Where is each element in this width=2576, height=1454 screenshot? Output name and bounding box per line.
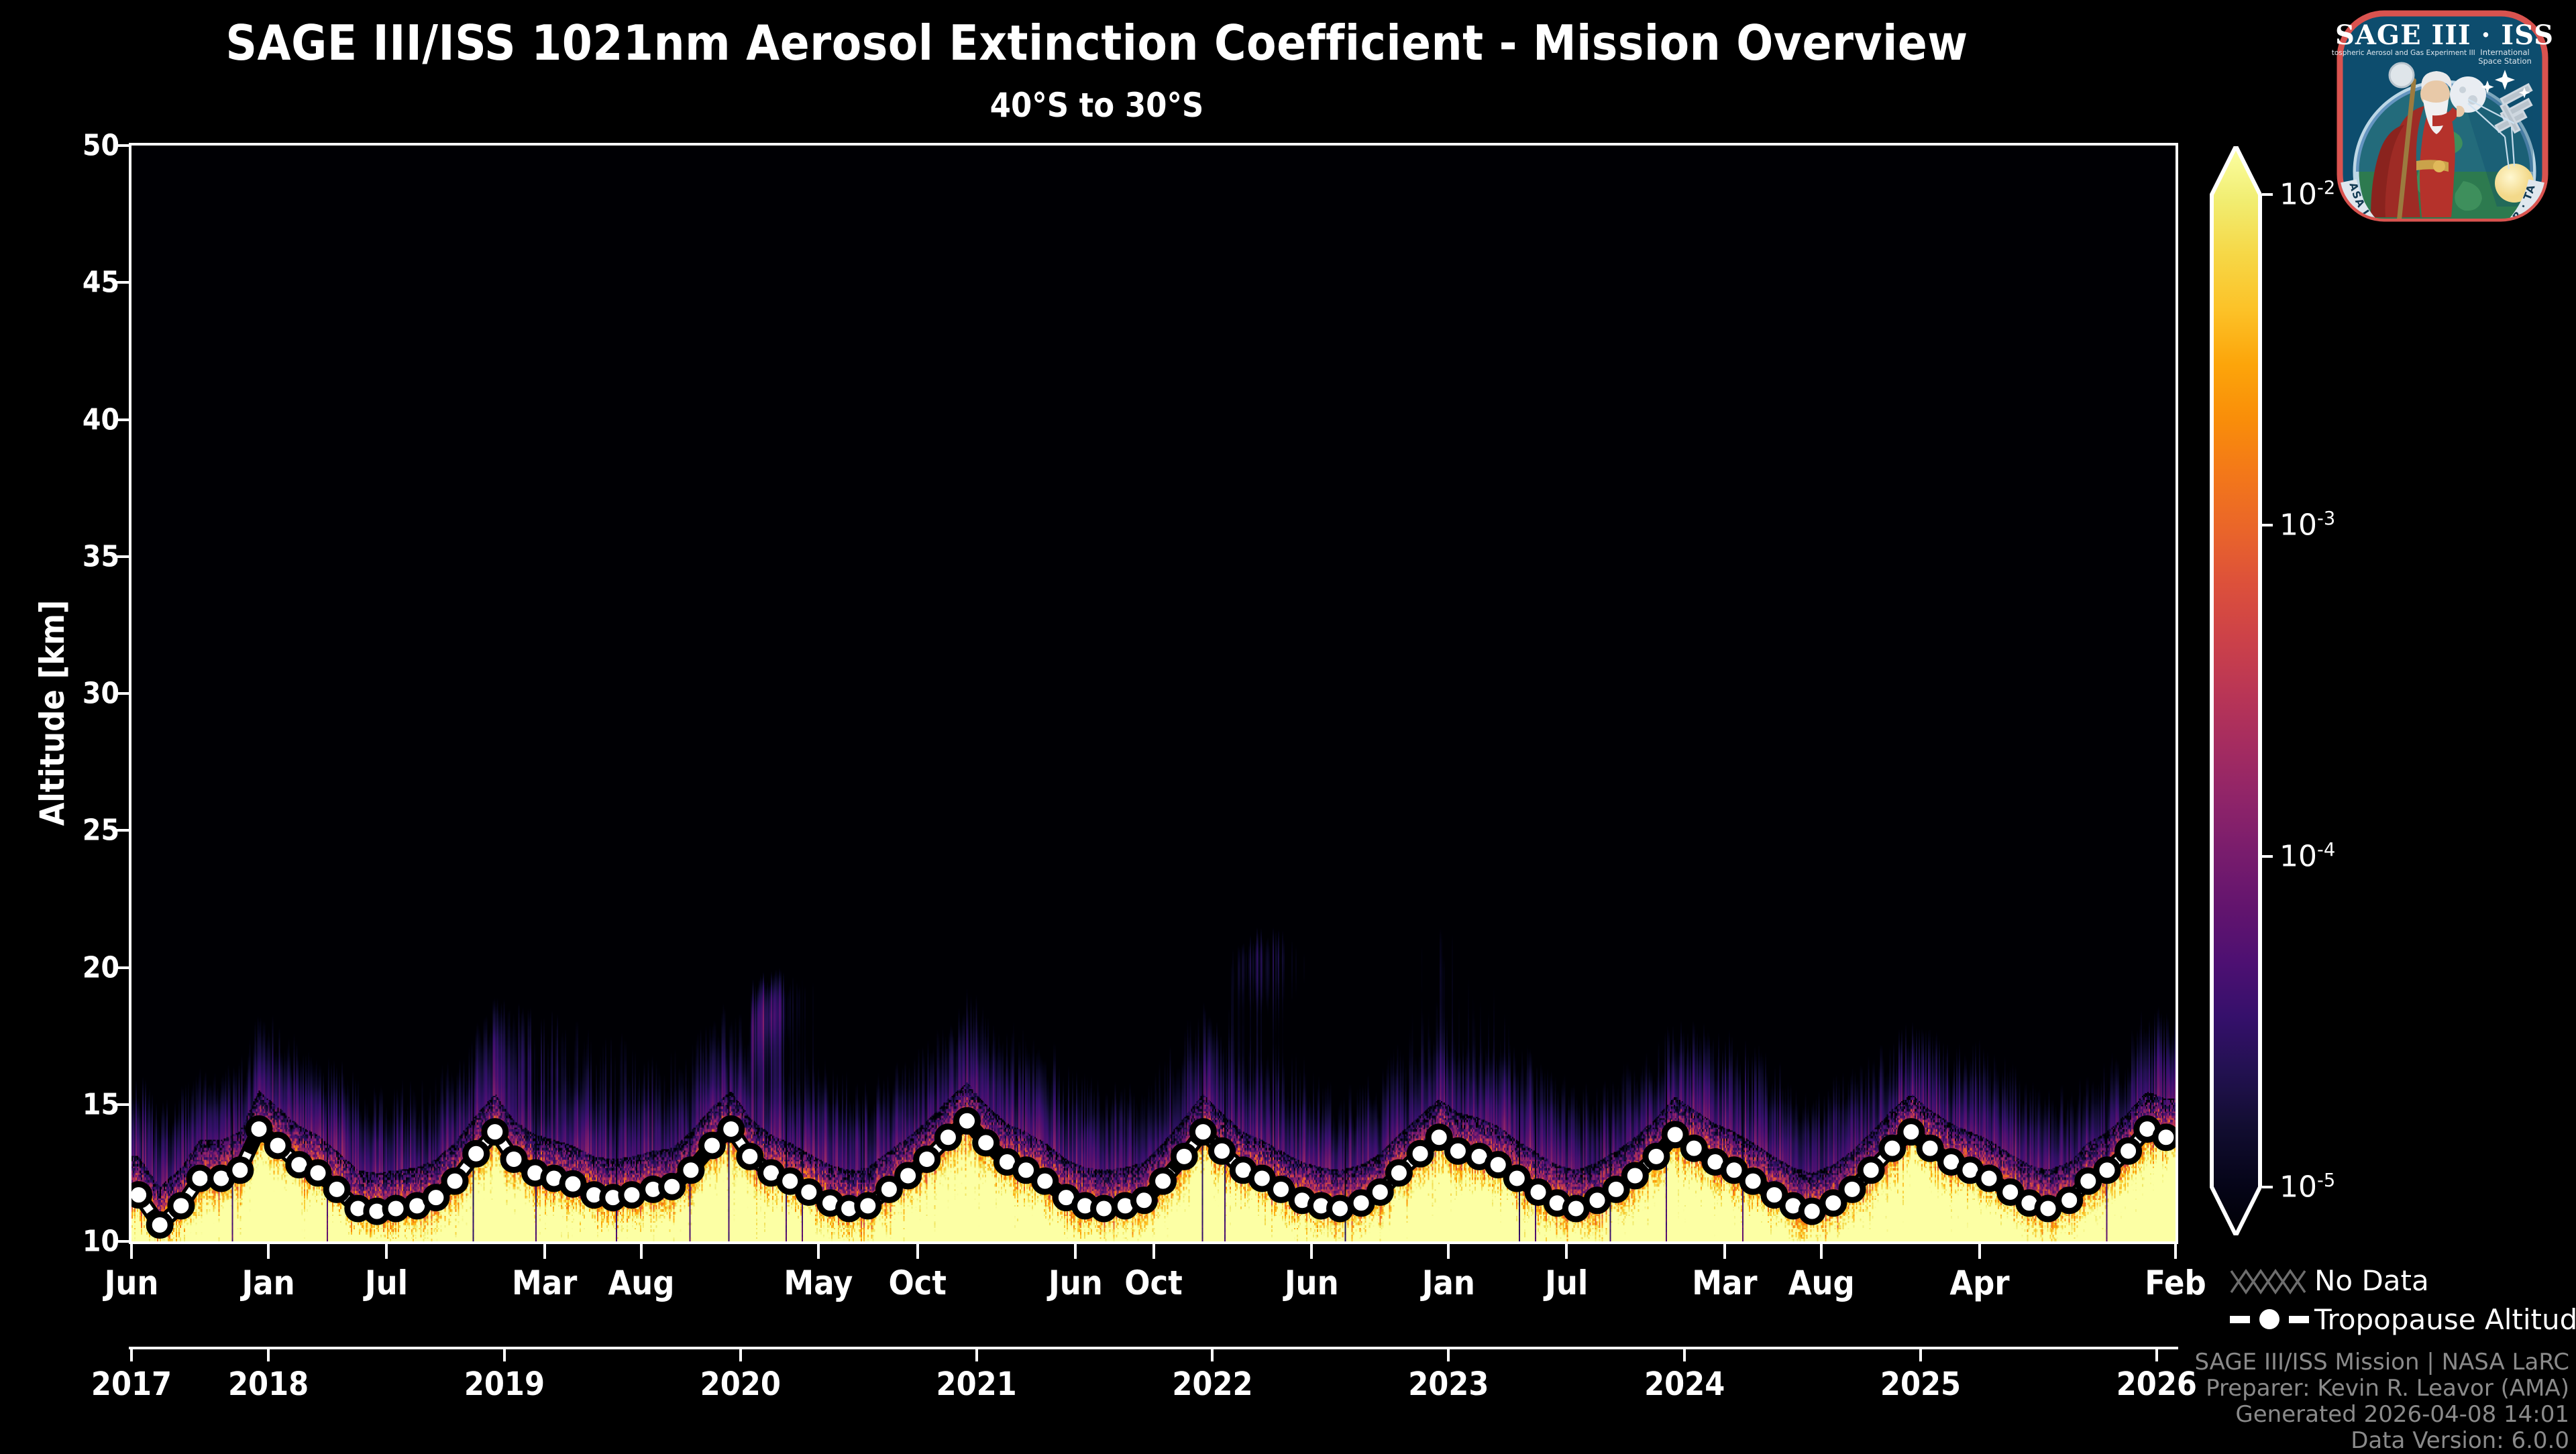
y-tick-label-20: 20 (39, 950, 119, 985)
x-tick-label-year-2: 2019 (464, 1365, 545, 1403)
x-tick-label-month-10: Jan (1422, 1264, 1475, 1302)
footer-line-generated: Generated 2026-04-08 14:01 (2194, 1402, 2569, 1428)
x-tick-mark-month-3 (543, 1244, 546, 1259)
page-title: SAGE III/ISS 1021nm Aerosol Extinction C… (0, 15, 2194, 71)
x-tick-label-month-12: Mar (1692, 1264, 1757, 1302)
legend-item-tropopause: Tropopause Altitude (2227, 1300, 2576, 1339)
colorbar-tick-mark-3 (2262, 1186, 2273, 1188)
x-tick-label-year-5: 2022 (1172, 1365, 1252, 1403)
x-tick-label-month-8: Oct (1124, 1264, 1182, 1302)
x-tick-label-month-7: Jun (1049, 1264, 1103, 1302)
x-tick-label-year-8: 2025 (1880, 1365, 1961, 1403)
tropopause-altitude-series (131, 146, 2176, 1241)
y-tick-label-15: 15 (39, 1087, 119, 1121)
y-tick-mark-20 (117, 966, 129, 969)
x-tick-mark-year-6 (1447, 1347, 1450, 1361)
x-tick-mark-month-7 (1074, 1244, 1077, 1259)
colorbar-tick-mark-1 (2262, 524, 2273, 526)
heatmap-plot-area (129, 143, 2178, 1244)
legend-label-tropopause: Tropopause Altitude (2314, 1303, 2576, 1336)
colorbar-tick-label-1: 10-3 (2279, 508, 2335, 543)
x-tick-label-month-5: May (784, 1264, 853, 1302)
y-tick-label-45: 45 (39, 266, 119, 300)
page-subtitle: 40°S to 30°S (0, 86, 2194, 125)
y-tick-label-50: 50 (39, 129, 119, 163)
x-tick-mark-year-4 (975, 1347, 978, 1361)
footer-line-mission: SAGE III/ISS Mission | NASA LaRC (2194, 1349, 2569, 1376)
y-tick-label-40: 40 (39, 402, 119, 437)
y-tick-label-25: 25 (39, 814, 119, 848)
y-tick-mark-10 (117, 1240, 129, 1243)
legend-item-no-data: No Data (2227, 1261, 2576, 1300)
x-tick-mark-year-5 (1211, 1347, 1214, 1361)
y-tick-mark-15 (117, 1103, 129, 1106)
x-tick-label-month-4: Aug (608, 1264, 674, 1302)
y-tick-label-30: 30 (39, 677, 119, 711)
colorbar-tick-label-0: 10-2 (2279, 178, 2335, 212)
svg-text:Space Station: Space Station (2478, 56, 2532, 66)
no-data-hatch-icon (2227, 1266, 2314, 1295)
x-tick-mark-month-4 (640, 1244, 643, 1259)
x-tick-label-year-4: 2021 (936, 1365, 1017, 1403)
footer-line-version: Data Version: 6.0.0 (2194, 1428, 2569, 1454)
x-tick-mark-year-8 (1919, 1347, 1922, 1361)
x-tick-label-month-11: Jul (1545, 1264, 1588, 1302)
x-tick-mark-year-3 (739, 1347, 742, 1361)
x-tick-label-year-1: 2018 (228, 1365, 309, 1403)
x-tick-mark-year-1 (267, 1347, 270, 1361)
x-tick-label-month-14: Apr (1949, 1264, 2009, 1302)
x-tick-label-year-0: 2017 (91, 1365, 172, 1403)
svg-text:International: International (2480, 48, 2529, 57)
x-tick-label-year-6: 2023 (1408, 1365, 1489, 1403)
x-tick-mark-year-2 (503, 1347, 506, 1361)
colorbar-tick-mark-0 (2262, 193, 2273, 196)
x-tick-label-year-7: 2024 (1644, 1365, 1725, 1403)
x-tick-mark-month-5 (817, 1244, 820, 1259)
x-tick-label-year-9: 2026 (2116, 1365, 2197, 1403)
colorbar (2212, 194, 2260, 1187)
x-tick-label-month-9: Jun (1285, 1264, 1339, 1302)
x-axis-year-spine (129, 1347, 2178, 1349)
x-tick-mark-year-0 (130, 1347, 133, 1361)
footer-line-preparer: Preparer: Kevin R. Leavor (AMA) (2194, 1376, 2569, 1402)
x-tick-label-month-6: Oct (888, 1264, 946, 1302)
svg-text:Stratospheric Aerosol and Gas: Stratospheric Aerosol and Gas Experiment… (2332, 49, 2475, 57)
x-tick-label-year-3: 2020 (700, 1365, 781, 1403)
x-tick-mark-month-13 (1820, 1244, 1823, 1259)
x-tick-mark-year-7 (1683, 1347, 1686, 1361)
x-tick-mark-month-14 (1978, 1244, 1981, 1259)
x-tick-mark-month-11 (1565, 1244, 1568, 1259)
x-tick-mark-month-1 (267, 1244, 270, 1259)
figure-canvas: SAGE III/ISS 1021nm Aerosol Extinction C… (0, 0, 2576, 1449)
y-tick-mark-30 (117, 692, 129, 695)
x-tick-label-month-2: Jul (365, 1264, 408, 1302)
x-tick-mark-month-15 (2174, 1244, 2177, 1259)
colorbar-tick-label-3: 10-5 (2279, 1170, 2335, 1205)
x-tick-mark-month-2 (385, 1244, 388, 1259)
x-tick-mark-year-9 (2155, 1347, 2158, 1361)
x-tick-mark-month-12 (1723, 1244, 1726, 1259)
y-tick-mark-35 (117, 555, 129, 558)
x-tick-label-month-3: Mar (512, 1264, 577, 1302)
y-tick-mark-50 (117, 144, 129, 147)
y-tick-label-10: 10 (39, 1225, 119, 1259)
x-tick-mark-month-6 (916, 1244, 919, 1259)
y-tick-mark-40 (117, 418, 129, 421)
x-tick-mark-month-9 (1310, 1244, 1313, 1259)
y-tick-mark-45 (117, 281, 129, 284)
x-tick-mark-month-10 (1447, 1244, 1450, 1259)
colorbar-tick-label-2: 10-4 (2279, 839, 2335, 873)
x-tick-mark-month-0 (130, 1244, 133, 1259)
x-tick-label-month-13: Aug (1788, 1264, 1855, 1302)
legend-label-no-data: No Data (2314, 1264, 2429, 1297)
legend: No Data Tropopause Altitude (2227, 1261, 2576, 1339)
colorbar-tick-mark-2 (2262, 855, 2273, 858)
sage-iii-iss-mission-patch-icon: BALL · NASA LANGLEY RESEARCH CENTER · TA… (2332, 5, 2553, 227)
y-tick-label-35: 35 (39, 539, 119, 573)
x-tick-label-month-1: Jan (242, 1264, 295, 1302)
y-tick-mark-25 (117, 829, 129, 832)
colorbar-gradient (2206, 146, 2265, 1235)
x-tick-label-month-15: Feb (2145, 1264, 2206, 1302)
svg-text:SAGE III · ISS: SAGE III · ISS (2335, 19, 2553, 51)
tropopause-marker-icon (2227, 1304, 2314, 1334)
x-tick-label-month-0: Jun (105, 1264, 159, 1302)
footer-credits: SAGE III/ISS Mission | NASA LaRC Prepare… (2194, 1349, 2569, 1454)
x-tick-mark-month-8 (1152, 1244, 1155, 1259)
